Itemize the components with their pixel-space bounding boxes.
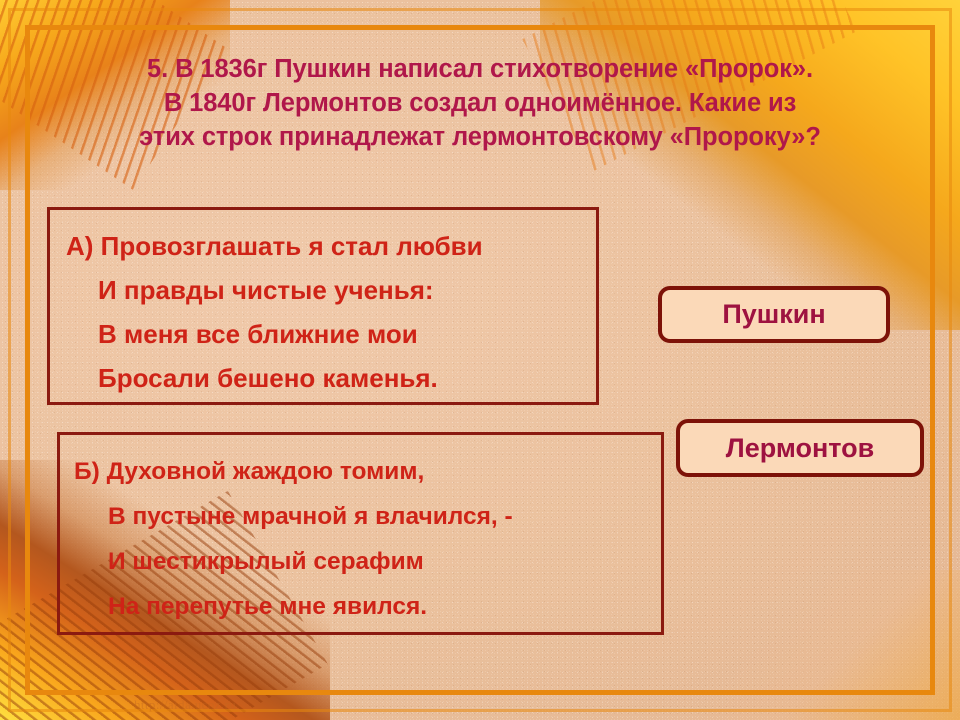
question-heading: 5. В 1836г Пушкин написал стихотворение … (56, 52, 904, 154)
answer-option-a-text: А) Провозглашать я стал любви И правды ч… (50, 210, 596, 400)
author-button-lermontov[interactable]: Лермонтов (676, 419, 924, 477)
question-line-3: этих строк принадлежат лермонтовскому «П… (56, 120, 904, 154)
presentation-slide: 5. В 1836г Пушкин написал стихотворение … (0, 0, 960, 720)
question-line-1: 5. В 1836г Пушкин написал стихотворение … (56, 52, 904, 86)
answer-b-line-4: На перепутье мне явился. (60, 584, 661, 629)
answer-option-b-text: Б) Духовной жаждою томим, В пустыне мрач… (60, 435, 661, 629)
answer-b-line-1: Б) Духовной жаждою томим, (60, 449, 661, 494)
answer-a-line-3: В меня все ближние мои (50, 312, 596, 356)
author-button-pushkin-label: Пушкин (722, 301, 825, 328)
answer-option-a[interactable]: А) Провозглашать я стал любви И правды ч… (47, 207, 599, 405)
question-line-2: В 1840г Лермонтов создал одноимённое. Ка… (56, 86, 904, 120)
author-button-lermontov-label: Лермонтов (726, 435, 874, 462)
answer-a-line-2: И правды чистые ученья: (50, 268, 596, 312)
answer-b-line-3: И шестикрылый серафим (60, 539, 661, 584)
source-watermark: http://aida.ucoz.ru (134, 697, 236, 713)
answer-option-b[interactable]: Б) Духовной жаждою томим, В пустыне мрач… (57, 432, 664, 635)
author-button-pushkin[interactable]: Пушкин (658, 286, 890, 343)
answer-a-line-1: А) Провозглашать я стал любви (50, 224, 596, 268)
answer-a-line-4: Бросали бешено каменья. (50, 356, 596, 400)
answer-b-line-2: В пустыне мрачной я влачился, - (60, 494, 661, 539)
